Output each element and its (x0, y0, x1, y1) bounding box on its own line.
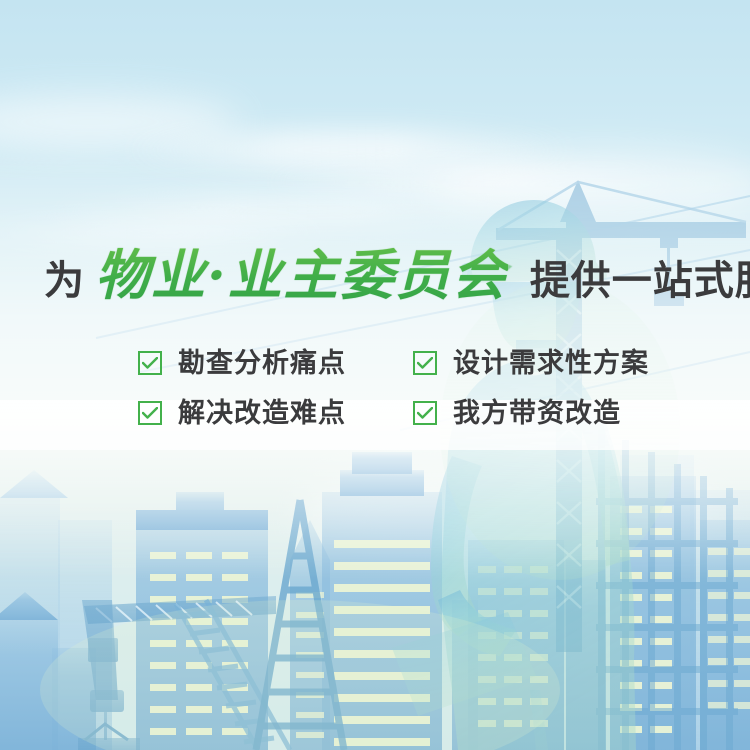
promo-banner: 为 物业·业主委员会 提供一站式服务 勘查分析痛点 设计需求性方 (0, 0, 750, 750)
feature-item: 我方带资改造 (413, 388, 688, 438)
feature-item: 设计需求性方案 (413, 338, 688, 388)
headline-highlight: 物业·业主委员会 (95, 248, 508, 302)
feature-label: 解决改造难点 (178, 400, 346, 427)
feature-label: 勘查分析痛点 (178, 350, 346, 377)
headline-suffix: 提供一站式服务 (530, 261, 750, 301)
banner-content: 为 物业·业主委员会 提供一站式服务 勘查分析痛点 设计需求性方 (0, 0, 750, 750)
feature-label: 设计需求性方案 (453, 350, 649, 377)
feature-list: 勘查分析痛点 设计需求性方案 解决改造难点 (138, 338, 698, 438)
checkbox-checked-icon[interactable] (413, 351, 437, 375)
feature-item: 勘查分析痛点 (138, 338, 413, 388)
feature-label: 我方带资改造 (453, 400, 621, 427)
headline: 为 物业·业主委员会 提供一站式服务 (44, 248, 734, 310)
checkbox-checked-icon[interactable] (138, 401, 162, 425)
headline-prefix: 为 (44, 261, 85, 301)
checkbox-checked-icon[interactable] (138, 351, 162, 375)
checkbox-checked-icon[interactable] (413, 401, 437, 425)
feature-item: 解决改造难点 (138, 388, 413, 438)
